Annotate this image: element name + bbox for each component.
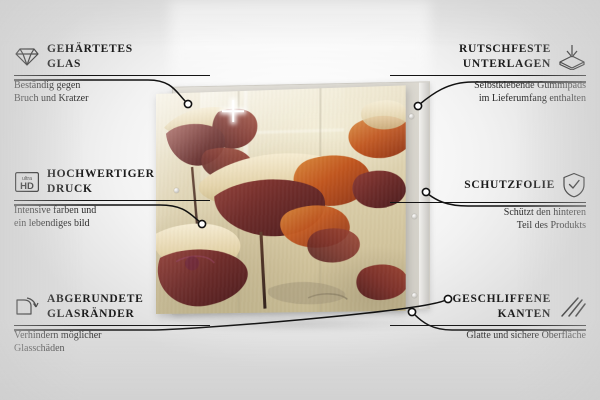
feature-title-line2: GLAS: [47, 57, 133, 72]
feature-title: HOCHWERTIGER DRUCK: [47, 167, 155, 196]
feature-title-line1: GEHÄRTETES: [47, 42, 133, 57]
feature-title-line1: SCHUTZFOLIE: [464, 178, 555, 193]
feature-desc-line1: Verhindern möglicher: [14, 330, 210, 343]
feature-desc-line2: Bruch und Kratzer: [14, 93, 210, 106]
feature-desc-line1: Selbstklebende Gummipads: [390, 80, 586, 93]
feature-description: Beständig gegen Bruch und Kratzer: [14, 80, 210, 105]
feature-desc-line1: Schützt den hinteren: [390, 207, 586, 220]
feature-title-line1: ABGERUNDETE: [47, 292, 144, 307]
feature-title-line2: KANTEN: [452, 307, 551, 322]
feature-description: Glatte und sichere Oberfläche: [390, 330, 586, 343]
diamond-icon: [14, 47, 40, 67]
feature-rule: [390, 75, 586, 76]
feature-description: Verhindern möglicher Glasschäden: [14, 330, 210, 355]
feature-desc-line2: im Lieferumfang enthalten: [390, 93, 586, 106]
feature-desc-line1: Beständig gegen: [14, 80, 210, 93]
infographic-canvas: GEHÄRTETES GLAS Beständig gegen Bruch un…: [0, 0, 600, 400]
feature-high-quality-print: ultra HD HOCHWERTIGER DRUCK Intensive fa…: [14, 167, 210, 230]
feature-title-line2: UNTERLAGEN: [459, 57, 551, 72]
feature-desc-line2: ein lebendiges bild: [14, 218, 210, 231]
feature-title: GESCHLIFFENE KANTEN: [452, 292, 551, 321]
feature-description: Schützt den hinteren Teil des Produkts: [390, 207, 586, 232]
feature-rounded-glass-edges: ABGERUNDETE GLASRÄNDER Verhindern möglic…: [14, 292, 210, 355]
feature-desc-line2: Glasschäden: [14, 343, 210, 356]
ultra-hd-badge-icon: ultra HD: [14, 171, 40, 193]
feature-tempered-glass: GEHÄRTETES GLAS Beständig gegen Bruch un…: [14, 42, 210, 105]
feature-protective-film: SCHUTZFOLIE Schützt den hinteren Teil de…: [390, 172, 586, 232]
feature-title: RUTSCHFESTE UNTERLAGEN: [459, 42, 551, 71]
feature-title: GEHÄRTETES GLAS: [47, 42, 133, 71]
feature-polished-edges: GESCHLIFFENE KANTEN Glatte und sichere O…: [390, 292, 586, 343]
diagonal-lines-icon: [558, 296, 586, 318]
feature-title-line1: RUTSCHFESTE: [459, 42, 551, 57]
feature-title-line2: GLASRÄNDER: [47, 307, 144, 322]
feature-title: ABGERUNDETE GLASRÄNDER: [47, 292, 144, 321]
feature-title: SCHUTZFOLIE: [464, 178, 555, 193]
badge-main-text: HD: [20, 181, 34, 192]
feature-description: Intensive farben und ein lebendiges bild: [14, 205, 210, 230]
feature-non-slip-pads: RUTSCHFESTE UNTERLAGEN Selbstklebende Gu…: [390, 42, 586, 105]
feature-header: GEHÄRTETES GLAS: [14, 42, 210, 71]
feature-desc-line1: Glatte und sichere Oberfläche: [390, 330, 586, 343]
feature-rule: [14, 200, 210, 201]
shield-check-icon: [562, 172, 586, 198]
feature-rule: [14, 75, 210, 76]
feature-header: ABGERUNDETE GLASRÄNDER: [14, 292, 210, 321]
feature-rule: [14, 325, 210, 326]
feature-header: ultra HD HOCHWERTIGER DRUCK: [14, 167, 210, 196]
feature-header: GESCHLIFFENE KANTEN: [390, 292, 586, 321]
feature-desc-line1: Intensive farben und: [14, 205, 210, 218]
feature-title-line2: DRUCK: [47, 182, 155, 197]
rounded-corner-icon: [14, 296, 40, 318]
feature-title-line1: HOCHWERTIGER: [47, 167, 155, 182]
pad-with-arrow-icon: [558, 44, 586, 70]
feature-header: SCHUTZFOLIE: [390, 172, 586, 198]
feature-rule: [390, 325, 586, 326]
feature-title-line1: GESCHLIFFENE: [452, 292, 551, 307]
feature-header: RUTSCHFESTE UNTERLAGEN: [390, 42, 586, 71]
feature-description: Selbstklebende Gummipads im Lieferumfang…: [390, 80, 586, 105]
feature-rule: [390, 202, 586, 203]
feature-desc-line2: Teil des Produkts: [390, 220, 586, 233]
